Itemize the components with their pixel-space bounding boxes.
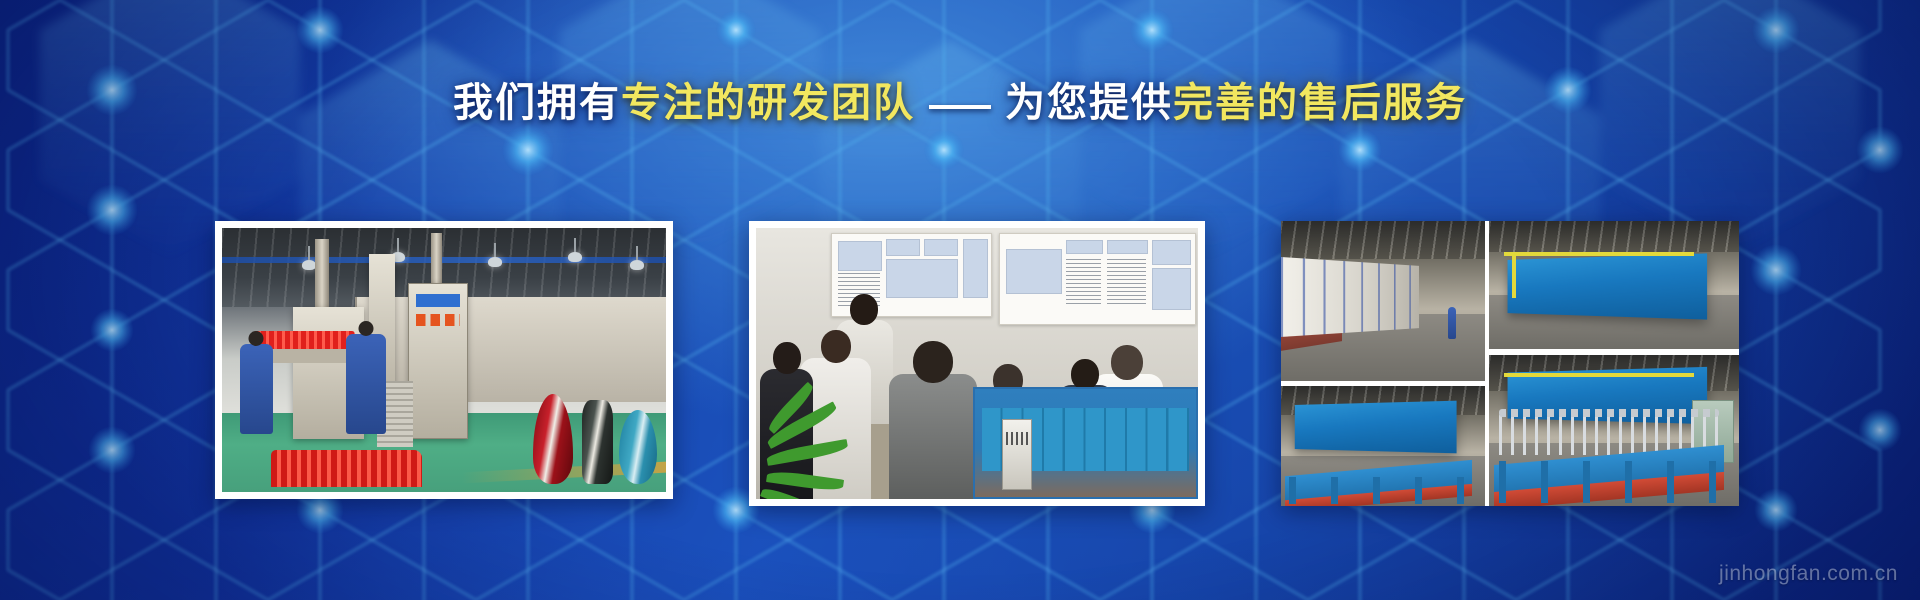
collage-cell-furnace-hall bbox=[1281, 221, 1485, 381]
collage-cell-conveyor bbox=[1281, 386, 1485, 506]
photo-panel-equipment-collage[interactable] bbox=[1281, 221, 1739, 506]
site-watermark: jinhongfan.com.cn bbox=[1719, 562, 1898, 586]
headline-highlight-2: 完善的售后服务 bbox=[1173, 81, 1467, 125]
inset-machinery-photo bbox=[973, 387, 1198, 499]
photo-panel-meeting[interactable] bbox=[749, 221, 1205, 506]
headline-segment-3: 为您提供 bbox=[1005, 81, 1173, 125]
collage-cell-blue-furnace bbox=[1489, 221, 1739, 349]
photo-panel-factory-line[interactable] bbox=[215, 221, 673, 499]
photo-factory-line bbox=[222, 228, 666, 492]
headline: 我们拥有专注的研发团队为您提供完善的售后服务 bbox=[0, 83, 1920, 123]
headline-highlight-1: 专注的研发团队 bbox=[621, 81, 915, 125]
potted-plant bbox=[756, 391, 880, 499]
headline-segment-1: 我们拥有 bbox=[453, 81, 621, 125]
glass-vase-black bbox=[582, 400, 613, 484]
photo-equipment-collage bbox=[1281, 221, 1739, 506]
photo-meeting bbox=[756, 228, 1198, 499]
promo-banner: 我们拥有专注的研发团队为您提供完善的售后服务 bbox=[0, 0, 1920, 600]
collage-cell-hook-line bbox=[1489, 355, 1739, 506]
headline-divider-dash bbox=[929, 105, 991, 109]
photo-panel-row bbox=[215, 221, 1739, 506]
